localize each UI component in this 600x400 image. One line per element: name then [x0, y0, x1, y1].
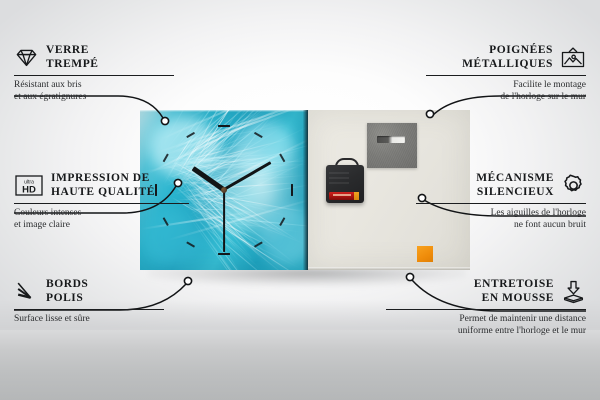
- foam-spacer-arrow-icon: [561, 279, 586, 304]
- feature-title: BORDS POLIS: [46, 278, 88, 305]
- feature-description: Facilite le montage de l'horloge sur le …: [426, 80, 586, 103]
- feature-title: IMPRESSION DE HAUTE QUALITÉ: [51, 172, 155, 199]
- feature-header: VERRE TREMPÉ: [14, 44, 174, 71]
- feature-header: POIGNÉES MÉTALLIQUES: [426, 44, 586, 71]
- feature-header: ultra HD IMPRESSION DE HAUTE QUALITÉ: [14, 172, 189, 199]
- picture-frame-hanger-icon: [560, 45, 586, 70]
- connector-dot-verre-trempe: [161, 117, 168, 124]
- connector-dot-bords-polis: [184, 277, 191, 284]
- feature-bords-polis: BORDS POLIS Surface lisse et sûre: [14, 278, 164, 326]
- feature-description: Surface lisse et sûre: [14, 314, 164, 326]
- feature-impression-hd: ultra HD IMPRESSION DE HAUTE QUALITÉ Cou…: [14, 172, 189, 231]
- feature-entretoise-mousse: ENTRETOISE EN MOUSSE Permet de maintenir…: [386, 278, 586, 337]
- feature-mecanisme-silencieux: MÉCANISME SILENCIEUX Les aiguilles de l'…: [416, 172, 586, 231]
- feature-rule: [416, 203, 586, 204]
- feature-title: ENTRETOISE EN MOUSSE: [474, 278, 554, 305]
- feature-poignees-metalliques: POIGNÉES MÉTALLIQUES Facilite le montage…: [426, 44, 586, 103]
- connector-dot-poignees: [426, 110, 433, 117]
- feature-rule: [14, 203, 189, 204]
- feature-description: Résistant aux bris et aux égratignures: [14, 80, 174, 103]
- feature-rule: [386, 309, 586, 310]
- ultra-hd-icon: ultra HD: [14, 173, 44, 198]
- polished-edges-icon: [14, 279, 39, 304]
- feature-title: MÉCANISME SILENCIEUX: [476, 172, 554, 199]
- feature-rule: [14, 75, 174, 76]
- feature-verre-trempe: VERRE TREMPÉ Résistant aux bris et aux é…: [14, 44, 174, 103]
- feature-description: Couleurs intenses et image claire: [14, 208, 189, 231]
- feature-title: POIGNÉES MÉTALLIQUES: [462, 44, 553, 71]
- svg-text:HD: HD: [22, 185, 36, 196]
- feature-description: Permet de maintenir une distance uniform…: [386, 314, 586, 337]
- feature-header: BORDS POLIS: [14, 278, 164, 305]
- feature-header: ENTRETOISE EN MOUSSE: [386, 278, 586, 305]
- feature-title: VERRE TREMPÉ: [46, 44, 99, 71]
- feature-rule: [426, 75, 586, 76]
- infographic-canvas: VERRE TREMPÉ Résistant aux bris et aux é…: [0, 0, 600, 400]
- feature-header: MÉCANISME SILENCIEUX: [416, 172, 586, 199]
- feature-description: Les aiguilles de l'horloge ne font aucun…: [416, 208, 586, 231]
- gear-icon: [561, 173, 586, 198]
- diamond-icon: [14, 45, 39, 70]
- feature-rule: [14, 309, 164, 310]
